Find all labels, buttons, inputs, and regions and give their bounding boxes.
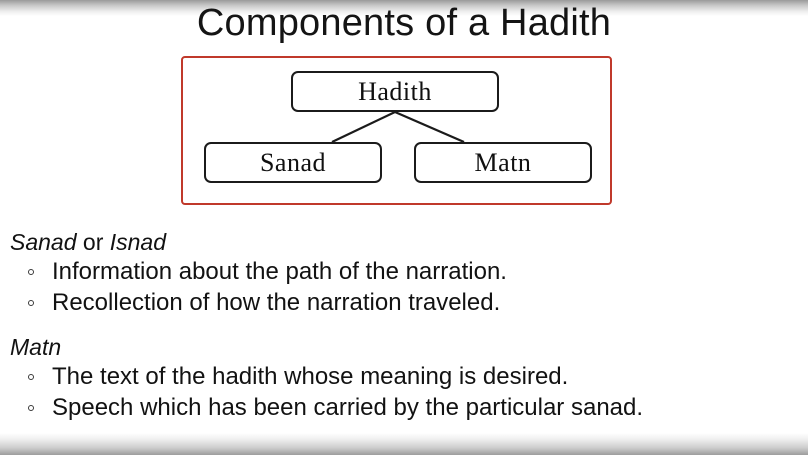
hadith-components-diagram: Hadith Sanad Matn [181, 56, 612, 205]
bottom-gradient-band [0, 433, 808, 455]
list-item: Speech which has been carried by the par… [25, 392, 800, 423]
diagram-node-matn: Matn [414, 142, 592, 183]
list-item: Information about the path of the narrat… [25, 256, 800, 287]
section-heading-sanad: Sanad or Isnad [10, 228, 800, 256]
page-title: Components of a Hadith [0, 2, 808, 45]
bullet-list-sanad: Information about the path of the narrat… [10, 256, 800, 318]
diagram-canvas: Hadith Sanad Matn [183, 58, 614, 207]
bullet-list-matn: The text of the hadith whose meaning is … [10, 361, 800, 423]
slide-canvas: Components of a Hadith Hadith Sanad Matn… [0, 0, 808, 455]
section-matn: Matn The text of the hadith whose meanin… [10, 333, 800, 423]
diagram-node-hadith: Hadith [291, 71, 499, 112]
section-heading-alt: Isnad [110, 229, 166, 255]
section-heading-matn: Matn [10, 333, 800, 361]
section-heading-conjunction: or [83, 229, 103, 255]
diagram-node-sanad: Sanad [204, 142, 382, 183]
section-heading-lead: Sanad [10, 229, 77, 255]
list-item: Recollection of how the narration travel… [25, 287, 800, 318]
section-sanad: Sanad or Isnad Information about the pat… [10, 228, 800, 318]
list-item: The text of the hadith whose meaning is … [25, 361, 800, 392]
